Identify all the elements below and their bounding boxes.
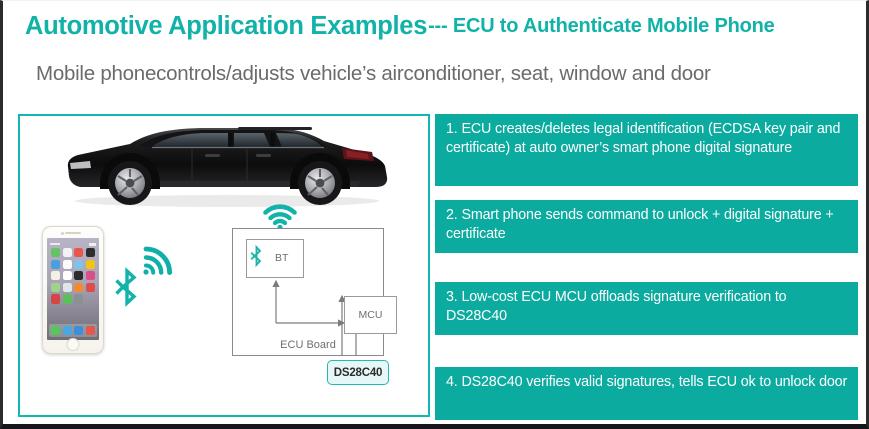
wifi-icon [263,204,297,230]
slide-canvas: Automotive Application Examples --- ECU … [0,0,869,429]
phone-home-button [67,338,80,351]
phone-status-bar [50,242,96,246]
title-sub-text: --- ECU to Authenticate Mobile Phone [427,15,775,38]
mcu-block: MCU [344,296,397,334]
phone-app-grid [50,248,96,304]
step-box-4: 4. DS28C40 verifies valid signatures, te… [435,367,858,420]
phone-camera [61,232,64,235]
step-box-1: 1. ECU creates/deletes legal identificat… [435,114,858,186]
phone-speaker [65,232,81,234]
bt-block-label: BT [275,252,288,264]
page-title: Automotive Application Examples --- ECU … [3,1,866,51]
ds28c40-chip: DS28C40 [327,360,389,385]
phone-dock [49,324,97,337]
phone-screen [47,238,99,340]
step-box-2: 2. Smart phone sends command to unlock +… [435,200,858,253]
subtitle-text: Mobile phonecontrols/adjusts vehicle’s a… [3,53,866,95]
step-box-3: 3. Low-cost ECU MCU offloads signature v… [435,282,858,335]
smartphone-image [42,226,104,354]
title-main-text: Automotive Application Examples [25,12,427,41]
bluetooth-small-icon [250,244,263,268]
diagram-panel: ECU Board [18,114,430,417]
bluetooth-icon [114,266,140,308]
wifi-signal-icon [142,242,178,276]
car-image [42,121,412,213]
